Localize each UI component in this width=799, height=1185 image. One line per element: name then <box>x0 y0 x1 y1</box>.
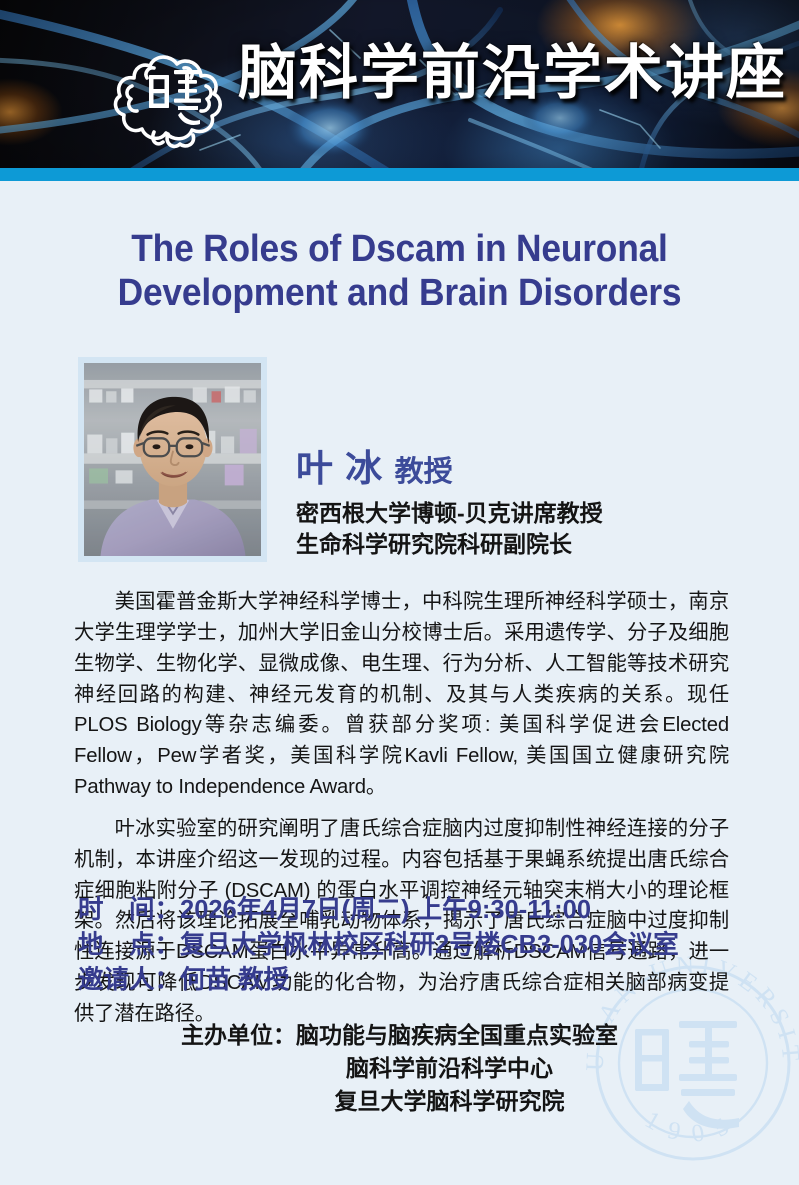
header-accent-bar <box>0 168 799 181</box>
speaker-name-line: 叶 冰 教授 <box>296 438 453 492</box>
event-details: 时 间：2026年4月7日(周二) 上午9:30-11:00 地 点：复旦大学枫… <box>78 893 679 999</box>
time-value: 2026年4月7日(周二) 上午9:30-11:00 <box>180 896 591 924</box>
host-value: 何苗 教授 <box>180 966 289 994</box>
poster-body: FUDAN UNIVERSITY 1905 The R <box>0 181 799 1185</box>
organizer-name-1: 脑功能与脑疾病全国重点实验室 <box>296 1022 618 1048</box>
organizer-line-1: 主办单位：脑功能与脑疾病全国重点实验室 <box>0 1019 799 1052</box>
speaker-affiliation: 密西根大学博顿-贝克讲席教授 生命科学研究院科研副院长 <box>296 498 603 559</box>
lecture-series-title: 脑科学前沿学术讲座 <box>238 44 787 103</box>
place-label: 地 点： <box>78 931 180 959</box>
detail-row-time: 时 间：2026年4月7日(周二) 上午9:30-11:00 <box>78 893 679 928</box>
speaker-photo-frame <box>78 357 267 562</box>
talk-title-line-1: The Roles of Dscam in Neuronal <box>28 227 771 271</box>
fudan-brain-logo-icon <box>108 34 234 152</box>
organizer-name-3: 复旦大学脑科学研究院 <box>0 1085 799 1118</box>
seminar-poster: 脑科学前沿学术讲座 FUDAN UNIVERSITY 1905 <box>0 0 799 1185</box>
speaker-name: 叶 冰 <box>296 448 383 489</box>
speaker-title-suffix: 教授 <box>395 456 453 488</box>
host-label: 邀请人： <box>78 966 180 994</box>
speaker-photo <box>84 363 261 556</box>
talk-title: The Roles of Dscam in Neuronal Developme… <box>28 227 771 316</box>
speaker-portrait-image <box>84 363 261 556</box>
place-value: 复旦大学枫林校区科研2号楼CB3-030会议室 <box>180 931 679 959</box>
detail-row-place: 地 点：复旦大学枫林校区科研2号楼CB3-030会议室 <box>78 928 679 963</box>
organizers-section: 主办单位：脑功能与脑疾病全国重点实验室 脑科学前沿科学中心 复旦大学脑科学研究院 <box>0 1019 799 1118</box>
speaker-affiliation-line-1: 密西根大学博顿-贝克讲席教授 <box>296 498 603 529</box>
poster-header-banner: 脑科学前沿学术讲座 <box>0 0 799 168</box>
organizer-label: 主办单位： <box>181 1022 296 1048</box>
talk-title-line-2: Development and Brain Disorders <box>28 271 771 315</box>
time-label: 时 间： <box>78 896 180 924</box>
bio-paragraph-1: 美国霍普金斯大学神经科学博士，中科院生理所神经科学硕士，南京大学生理学学士，加州… <box>74 587 729 803</box>
detail-row-host: 邀请人：何苗 教授 <box>78 963 679 998</box>
speaker-affiliation-line-2: 生命科学研究院科研副院长 <box>296 529 603 560</box>
organizer-name-2: 脑科学前沿科学中心 <box>0 1052 799 1085</box>
